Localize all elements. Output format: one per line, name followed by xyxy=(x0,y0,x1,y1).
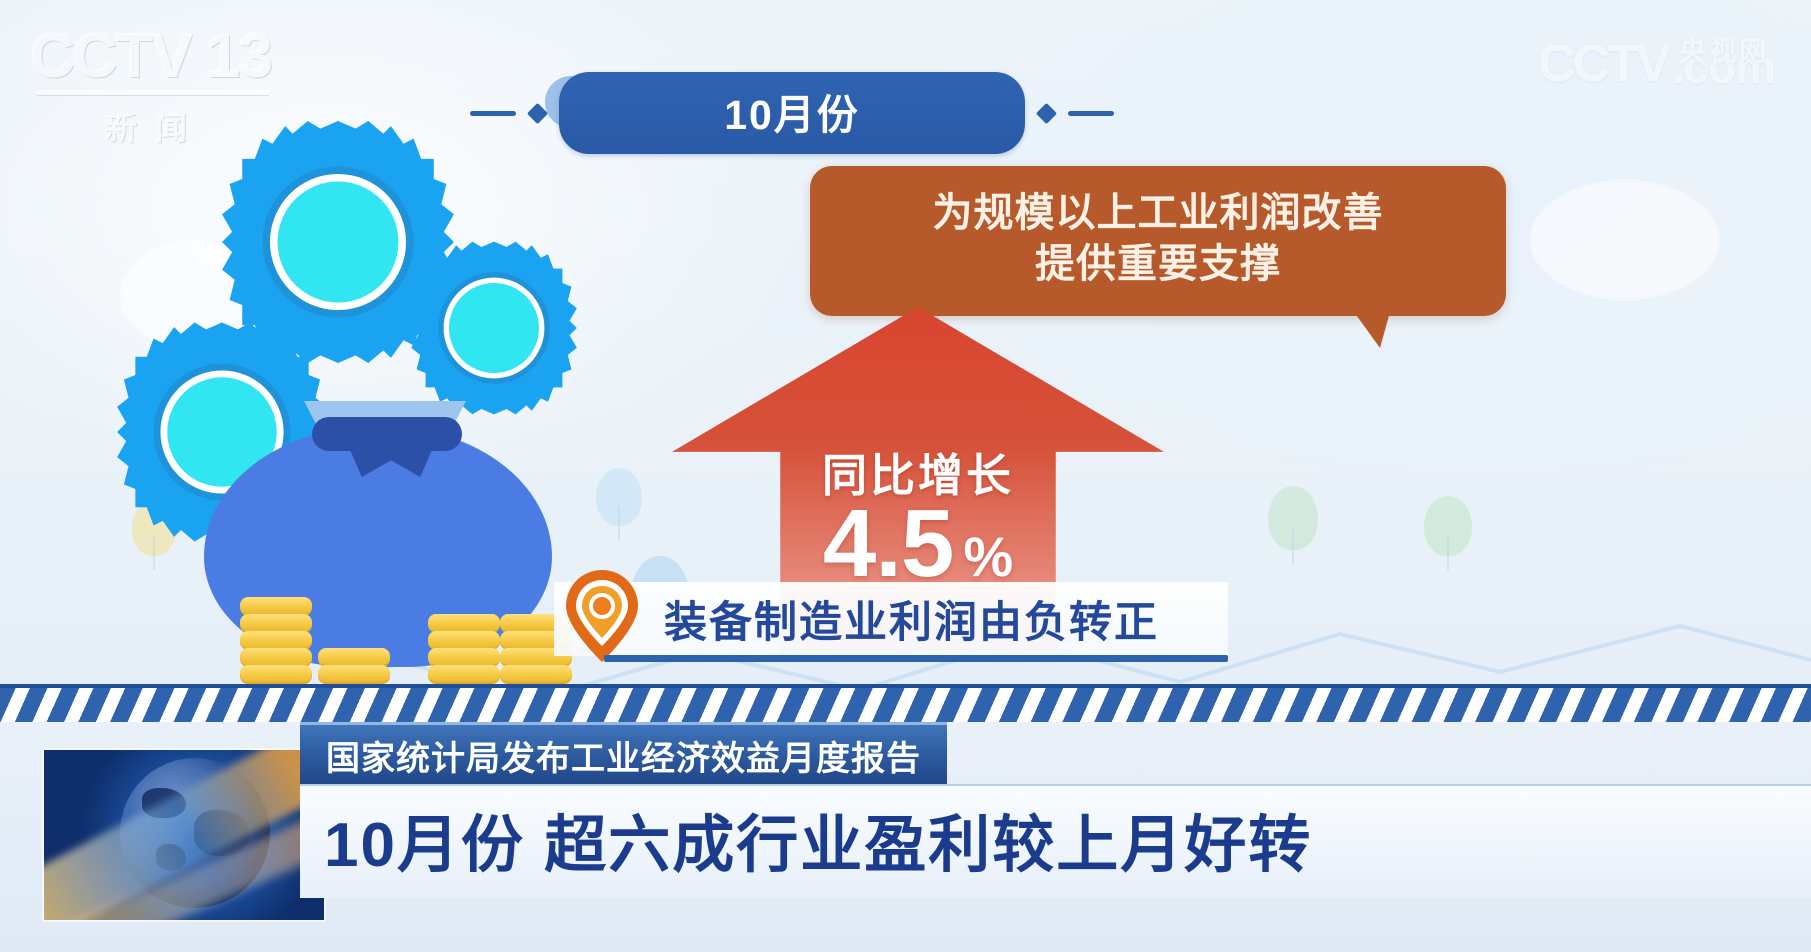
watermark-chinese-label: 央视网 xyxy=(1679,30,1769,69)
arrow-value-unit: % xyxy=(963,524,1013,589)
bubble-line-2: 提供重要支撑 xyxy=(828,239,1488,290)
badge-diamond-right-icon xyxy=(1036,102,1057,123)
stripe-band-edge xyxy=(0,684,1811,688)
coin-stack xyxy=(428,616,500,684)
news-globe-thumbnail xyxy=(44,750,324,920)
badge-pill-wrap: 10月份 xyxy=(559,72,1025,154)
cctv13-logo-main: CCTV 13 xyxy=(30,26,280,88)
badge-dash-right-icon xyxy=(1068,111,1114,116)
decorative-balloon xyxy=(1424,496,1472,556)
bubble-tail xyxy=(1354,312,1390,348)
watermark-cctv-text: CCTV xyxy=(1538,34,1668,94)
callout-text: 装备制造业利润由负转正 xyxy=(664,588,1159,650)
callout-bar: 装备制造业利润由负转正 xyxy=(554,582,1228,656)
badge-pill-label: 10月份 xyxy=(559,72,1025,154)
coin-stack xyxy=(318,650,390,684)
broadcast-screen: CCTV 13 新闻 央视网 CCTV .com 10月份 xyxy=(0,0,1811,952)
lower-third-headline: 10月份 超六成行业盈利较上月好转 xyxy=(300,784,1811,898)
orange-speech-bubble: 为规模以上工业利润改善 提供重要支撑 xyxy=(810,166,1506,316)
bubble-line-1: 为规模以上工业利润改善 xyxy=(828,188,1488,239)
lower-third-subtitle: 国家统计局发布工业经济效益月度报告 xyxy=(300,722,947,792)
badge-dash-left-icon xyxy=(470,111,516,116)
lower-third: 国家统计局发布工业经济效益月度报告 10月份 超六成行业盈利较上月好转 xyxy=(0,722,1811,952)
decorative-balloon xyxy=(596,468,642,526)
stripe-divider-band xyxy=(0,684,1811,722)
decorative-cloud xyxy=(1530,180,1720,300)
callout-underline xyxy=(604,655,1228,662)
decorative-balloon xyxy=(1268,486,1318,550)
cctv-com-watermark: 央视网 CCTV .com xyxy=(1538,34,1775,94)
location-pin-icon xyxy=(562,568,642,664)
header-month-badge: 10月份 xyxy=(470,72,1114,154)
coin-stack xyxy=(240,599,312,684)
